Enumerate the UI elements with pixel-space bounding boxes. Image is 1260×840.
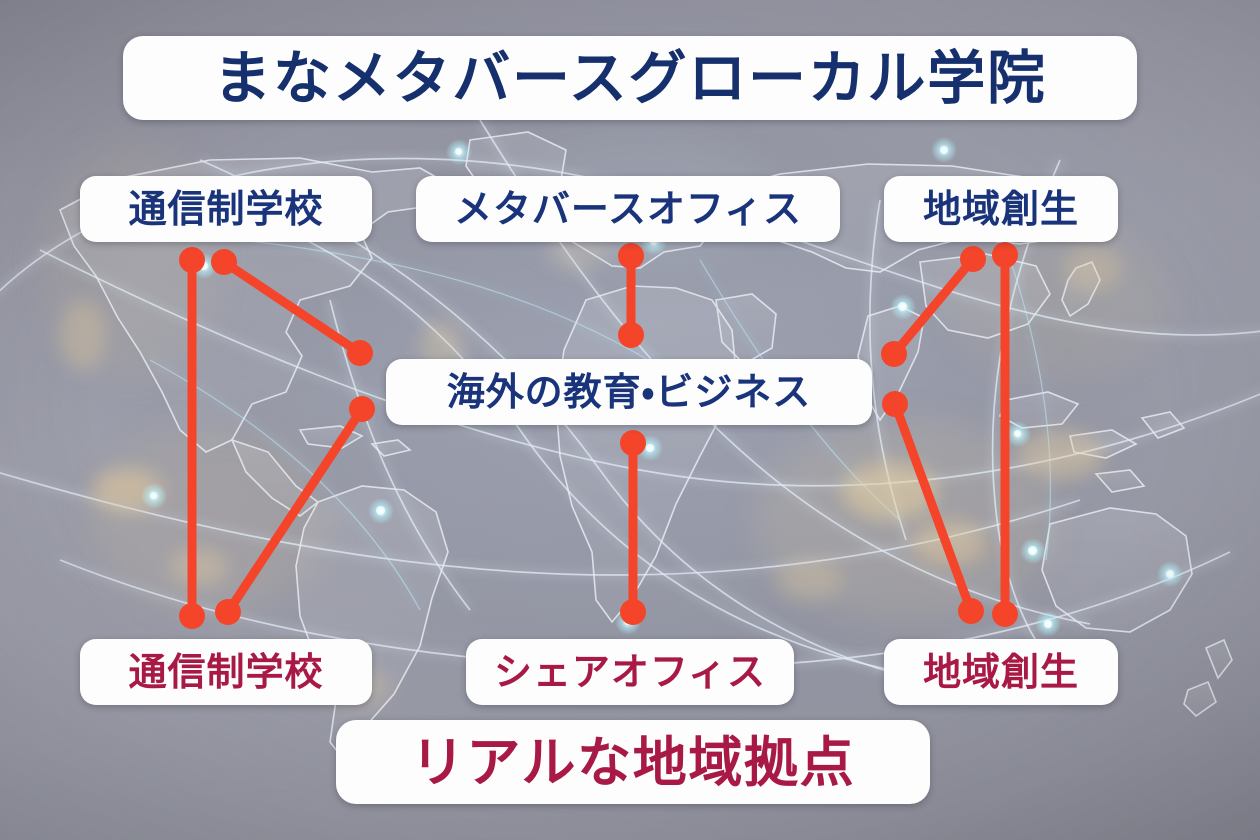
- connector-dot: [618, 322, 644, 348]
- connector-dot: [620, 599, 646, 625]
- connector-dot: [620, 430, 646, 456]
- connector-dot: [958, 598, 984, 624]
- footer-caption-text: リアルな地域拠点: [411, 735, 855, 789]
- label-virtual-regional-revitalization[interactable]: 地域創生: [884, 176, 1118, 242]
- label-text: 地域創生: [923, 653, 1079, 691]
- label-text: 海外の教育・ビジネス: [447, 373, 812, 411]
- label-real-share-office[interactable]: シェアオフィス: [466, 639, 794, 705]
- infographic-canvas: まなメタバースグローカル学院 通信制学校 メタバースオフィス 地域創生 海外の教…: [0, 0, 1260, 840]
- connector-line: [228, 409, 362, 612]
- connector-dot: [992, 242, 1018, 268]
- connector-dot: [211, 249, 237, 275]
- connector-lines: [192, 255, 1005, 616]
- label-text: メタバースオフィス: [454, 190, 802, 228]
- label-text: 通信制学校: [129, 190, 324, 228]
- connector-dot: [349, 396, 375, 422]
- label-real-correspondence-school[interactable]: 通信制学校: [80, 639, 372, 705]
- connector-line: [224, 262, 360, 353]
- connector-dot: [992, 601, 1018, 627]
- connector-dots: [179, 242, 1018, 629]
- page-title-text: まなメタバースグローカル学院: [213, 49, 1046, 107]
- connector-dot: [882, 391, 908, 417]
- connector-dot: [179, 603, 205, 629]
- connector-line: [894, 259, 973, 354]
- label-virtual-metaverse-office[interactable]: メタバースオフィス: [416, 176, 840, 242]
- label-real-regional-revitalization[interactable]: 地域創生: [884, 639, 1118, 705]
- label-virtual-correspondence-school[interactable]: 通信制学校: [80, 176, 372, 242]
- connector-dot: [215, 599, 241, 625]
- footer-caption: リアルな地域拠点: [336, 720, 930, 804]
- connector-line: [895, 404, 971, 611]
- page-title: まなメタバースグローカル学院: [123, 36, 1137, 120]
- connector-dot: [618, 243, 644, 269]
- connector-dot: [881, 341, 907, 367]
- label-text: 地域創生: [923, 190, 1079, 228]
- label-virtual-overseas-education-business[interactable]: 海外の教育・ビジネス: [386, 359, 872, 425]
- connector-dot: [960, 246, 986, 272]
- connector-dot: [347, 340, 373, 366]
- label-text: 通信制学校: [129, 653, 324, 691]
- connector-dot: [179, 247, 205, 273]
- label-text: シェアオフィス: [494, 653, 766, 691]
